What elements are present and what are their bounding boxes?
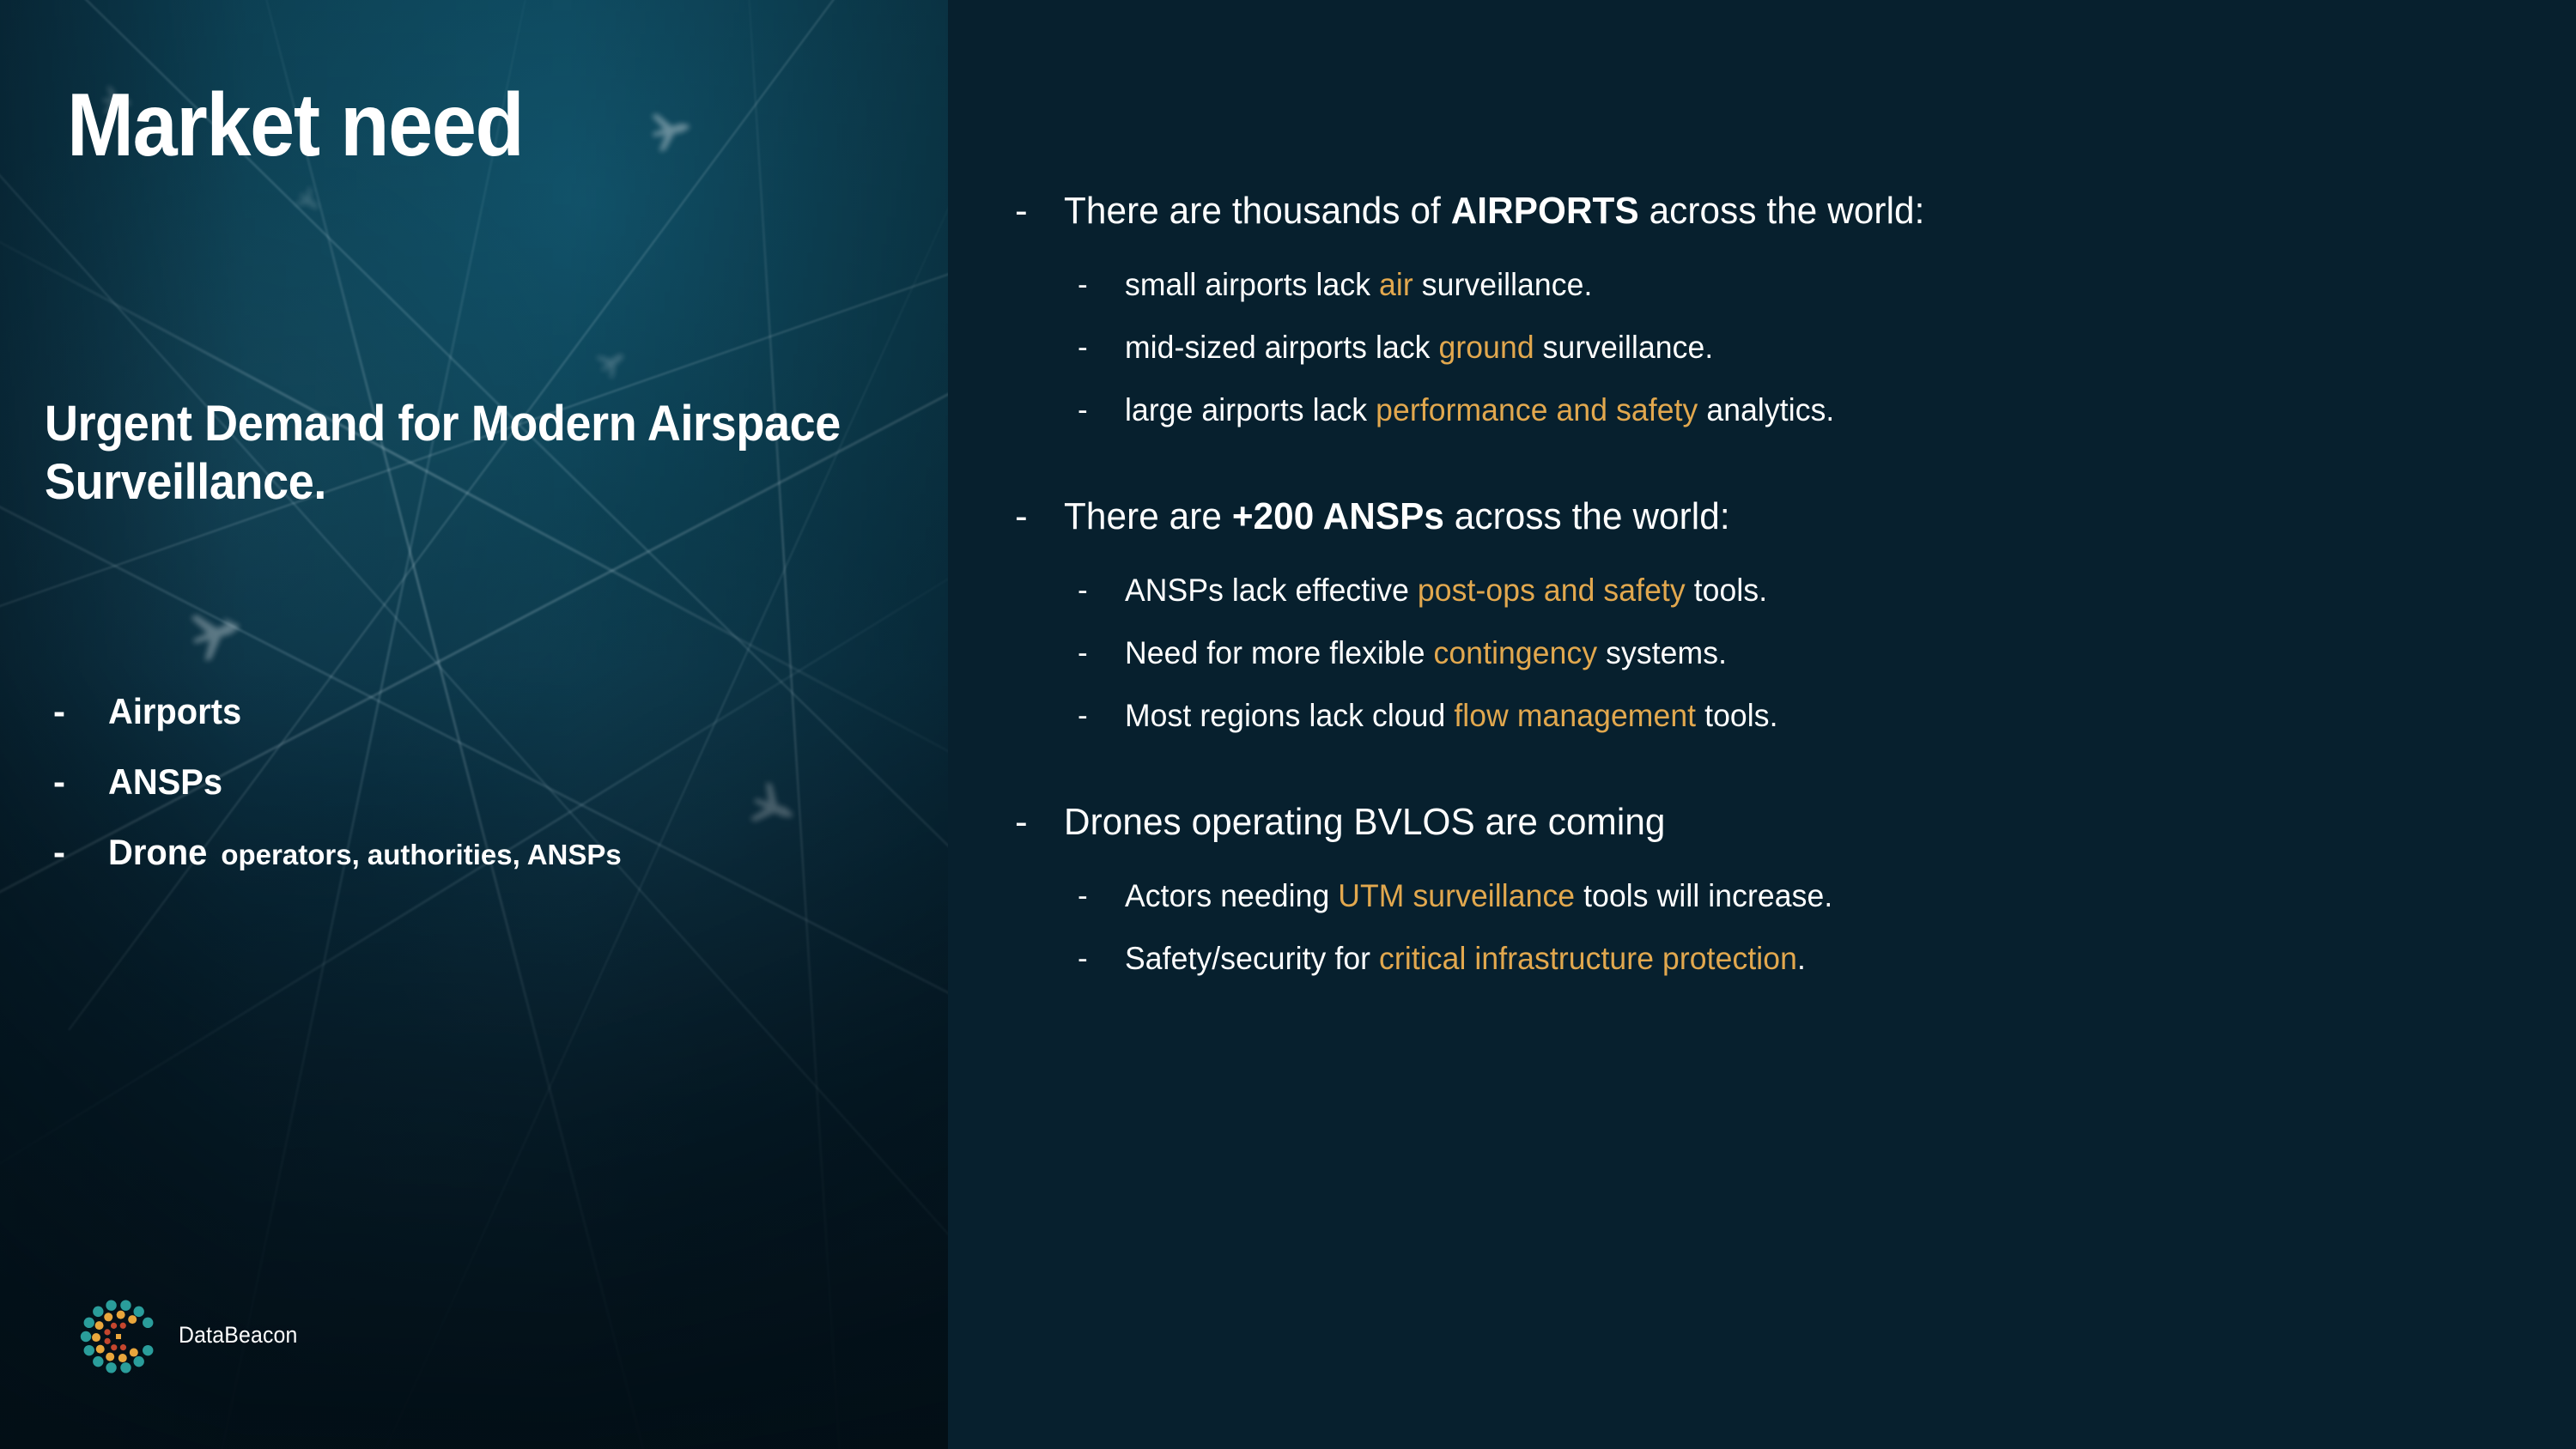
emphasis-text: +200 ANSPs <box>1232 495 1444 537</box>
logo-dot <box>118 1354 127 1362</box>
main-bullet-row: -There are thousands of AIRPORTS across … <box>1015 182 2552 240</box>
sub-bullet-row: -ANSPs lack effective post-ops and safet… <box>1015 564 2552 627</box>
plain-text: surveillance. <box>1413 267 1593 302</box>
sub-bullet-list: -Actors needing UTM surveillance tools w… <box>1015 870 2552 995</box>
plain-text: small airports lack <box>1125 267 1379 302</box>
plain-text: Drones operating BVLOS are coming <box>1064 801 1666 843</box>
sub-bullet-text: ANSPs lack effective post-ops and safety… <box>1125 564 1767 617</box>
plain-text: tools will increase. <box>1575 878 1832 913</box>
bullet-dash: - <box>1078 627 1125 680</box>
plain-text: There are <box>1064 495 1232 537</box>
left-panel: Market need Urgent Demand for Modern Air… <box>0 0 948 1449</box>
logo-dot <box>120 1344 126 1350</box>
plain-text: systems. <box>1597 635 1727 670</box>
logo-dot <box>111 1323 117 1329</box>
logo-dot <box>104 1313 112 1321</box>
highlight-text: flow management <box>1454 698 1696 733</box>
logo-dot <box>106 1362 116 1373</box>
logo-dot <box>143 1318 153 1328</box>
bullet-dash: - <box>1015 182 1064 240</box>
bullet-sublabel: operators, authorities, ANSPs <box>221 839 621 871</box>
logo-dot <box>143 1345 153 1355</box>
bullet-dash: - <box>1078 564 1125 617</box>
emphasis-text: AIRPORTS <box>1451 190 1639 232</box>
right-panel: -There are thousands of AIRPORTS across … <box>948 0 2576 1449</box>
highlight-text: performance and safety <box>1376 392 1698 427</box>
beacon-dots-icon <box>76 1298 172 1375</box>
logo-dot <box>130 1349 138 1357</box>
bullet-label: Drone <box>108 832 207 873</box>
logo-dot <box>117 1311 125 1319</box>
bullet-dash: - <box>53 694 108 730</box>
logo-dot <box>81 1331 91 1342</box>
main-bullet-row: -There are +200 ANSPs across the world: <box>1015 488 2552 546</box>
plain-text: tools. <box>1686 573 1767 608</box>
list-item: - Airports <box>53 691 946 761</box>
main-bullet-text: There are +200 ANSPs across the world: <box>1064 488 1730 546</box>
plain-text: There are thousands of <box>1064 190 1451 232</box>
sub-bullet-row: -small airports lack air surveillance. <box>1015 258 2552 321</box>
logo-wordmark: DataBeacon <box>179 1322 298 1349</box>
bullet-dash: - <box>1015 793 1064 852</box>
sub-bullet-row: -Actors needing UTM surveillance tools w… <box>1015 870 2552 932</box>
sub-bullet-text: Safety/security for critical infrastruct… <box>1125 932 1806 985</box>
sub-bullet-text: mid-sized airports lack ground surveilla… <box>1125 321 1713 374</box>
highlight-text: ground <box>1439 330 1534 365</box>
sub-bullet-text: Need for more flexible contingency syste… <box>1125 627 1727 680</box>
content-block: -There are thousands of AIRPORTS across … <box>1015 182 2552 488</box>
plain-text: tools. <box>1696 698 1777 733</box>
sub-bullet-row: -Most regions lack cloud flow management… <box>1015 689 2552 752</box>
logo-dot <box>93 1356 103 1367</box>
left-subtitle: Urgent Demand for Modern Airspace Survei… <box>45 395 875 512</box>
plain-text: surveillance. <box>1534 330 1714 365</box>
plain-text: analytics. <box>1698 392 1834 427</box>
content-blocks: -There are thousands of AIRPORTS across … <box>1015 182 2552 995</box>
logo-dot <box>84 1345 94 1355</box>
plain-text: across the world: <box>1639 190 1925 232</box>
sub-bullet-list: -ANSPs lack effective post-ops and safet… <box>1015 564 2552 752</box>
bullet-dash: - <box>1078 384 1125 437</box>
sub-bullet-text: large airports lack performance and safe… <box>1125 384 1834 437</box>
bullet-dash: - <box>53 834 108 870</box>
sub-bullet-text: Most regions lack cloud flow management … <box>1125 689 1778 743</box>
plain-text: Need for more flexible <box>1125 635 1434 670</box>
slide-canvas: Market need Urgent Demand for Modern Air… <box>0 0 2576 1449</box>
logo-dot <box>128 1315 137 1324</box>
logo-center-dot <box>116 1334 121 1339</box>
plain-text: mid-sized airports lack <box>1125 330 1439 365</box>
logo-dot <box>106 1300 116 1310</box>
sub-bullet-row: -Safety/security for critical infrastruc… <box>1015 932 2552 995</box>
main-bullet-text: There are thousands of AIRPORTS across t… <box>1064 182 1924 240</box>
databeacon-logo: DataBeacon <box>76 1298 359 1375</box>
plain-text: Most regions lack cloud <box>1125 698 1454 733</box>
highlight-text: UTM surveillance <box>1338 878 1575 913</box>
bullet-dash: - <box>1078 932 1125 985</box>
sub-bullet-text: small airports lack air surveillance. <box>1125 258 1592 312</box>
logo-dot <box>104 1329 110 1335</box>
plain-text: Actors needing <box>1125 878 1338 913</box>
main-bullet-row: -Drones operating BVLOS are coming <box>1015 793 2552 852</box>
bullet-dash: - <box>1078 258 1125 312</box>
highlight-text: contingency <box>1434 635 1598 670</box>
highlight-text: post-ops and safety <box>1418 573 1686 608</box>
logo-dot <box>133 1307 143 1317</box>
logo-dot <box>133 1356 143 1367</box>
plain-text: large airports lack <box>1125 392 1376 427</box>
plain-text: . <box>1797 941 1806 976</box>
bullet-dash: - <box>53 764 108 800</box>
bullet-dash: - <box>1078 321 1125 374</box>
logo-dot <box>93 1307 103 1317</box>
logo-dot <box>111 1344 117 1350</box>
bullet-label: ANSPs <box>108 761 222 803</box>
page-title: Market need <box>67 81 523 170</box>
bullet-dash: - <box>1078 870 1125 923</box>
bullet-dash: - <box>1078 689 1125 743</box>
left-bullet-list: - Airports - ANSPs - Drone operators, au… <box>53 691 946 902</box>
sub-bullet-list: -small airports lack air surveillance.-m… <box>1015 258 2552 446</box>
plain-text: ANSPs lack effective <box>1125 573 1418 608</box>
content-block: -Drones operating BVLOS are coming-Actor… <box>1015 793 2552 995</box>
list-item: - Drone operators, authorities, ANSPs <box>53 832 946 902</box>
bullet-dash: - <box>1015 488 1064 546</box>
list-item: - ANSPs <box>53 761 946 832</box>
logo-dot <box>120 1362 131 1373</box>
block-spacer <box>1015 446 2552 488</box>
logo-dot <box>105 1338 111 1344</box>
logo-dot <box>95 1321 104 1330</box>
highlight-text: air <box>1379 267 1413 302</box>
block-spacer <box>1015 752 2552 793</box>
logo-dot <box>120 1323 126 1329</box>
sub-bullet-row: -large airports lack performance and saf… <box>1015 384 2552 446</box>
plain-text: Safety/security for <box>1125 941 1379 976</box>
sub-bullet-row: -Need for more flexible contingency syst… <box>1015 627 2552 689</box>
content-block: -There are +200 ANSPs across the world:-… <box>1015 488 2552 793</box>
sub-bullet-row: -mid-sized airports lack ground surveill… <box>1015 321 2552 384</box>
sub-bullet-text: Actors needing UTM surveillance tools wi… <box>1125 870 1832 923</box>
logo-dot <box>96 1345 105 1354</box>
logo-dot <box>120 1300 131 1310</box>
plain-text: across the world: <box>1444 495 1730 537</box>
bullet-label: Airports <box>108 691 241 732</box>
logo-dot <box>106 1353 114 1361</box>
logo-dot <box>84 1318 94 1328</box>
main-bullet-text: Drones operating BVLOS are coming <box>1064 793 1666 852</box>
highlight-text: critical infrastructure protection <box>1379 941 1797 976</box>
logo-dot <box>92 1333 100 1342</box>
